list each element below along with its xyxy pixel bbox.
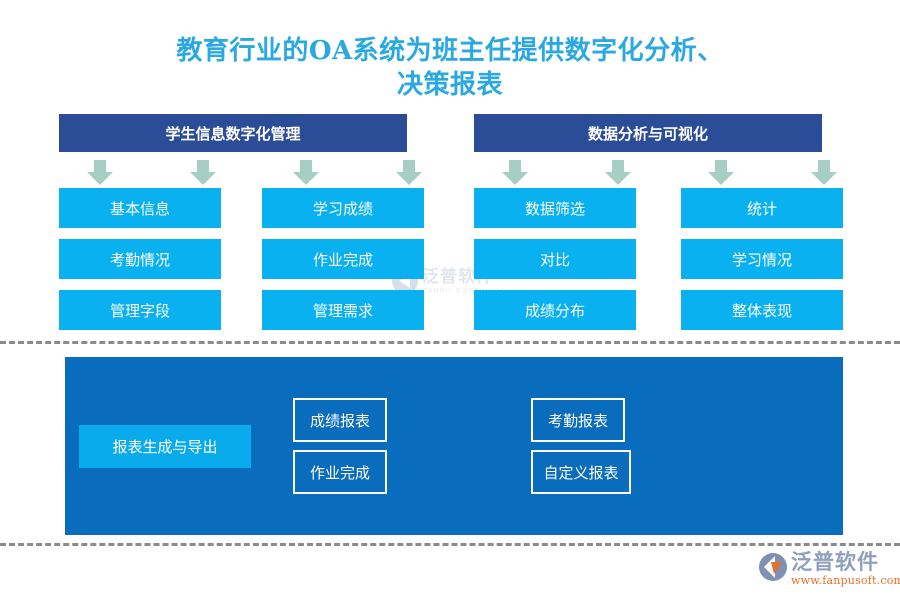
card-attendance[interactable]: 考勤情况 <box>59 239 221 279</box>
card-data-filter[interactable]: 数据筛选 <box>474 188 636 228</box>
arrow-down-icon <box>810 160 838 186</box>
divider-bottom <box>0 543 900 546</box>
report-box-label: 考勤报表 <box>548 410 608 431</box>
report-box-custom[interactable]: 自定义报表 <box>531 450 631 494</box>
page-title-line-2: 决策报表 <box>0 68 900 102</box>
report-panel-label[interactable]: 报表生成与导出 <box>79 425 251 468</box>
page-title: 教育行业的OA系统为班主任提供数字化分析、 决策报表 <box>0 34 900 102</box>
card-label: 统计 <box>747 198 777 219</box>
card-label: 整体表现 <box>732 300 792 321</box>
card-management-need[interactable]: 管理需求 <box>262 290 424 330</box>
card-study-scores[interactable]: 学习成绩 <box>262 188 424 228</box>
card-label: 学习成绩 <box>313 198 373 219</box>
report-box-label: 作业完成 <box>310 462 370 483</box>
arrow-down-icon <box>707 160 735 186</box>
brand-logo: 泛普软件 www.fanpusoft.com <box>758 551 894 593</box>
card-score-distribution[interactable]: 成绩分布 <box>474 290 636 330</box>
section-header-label: 数据分析与可视化 <box>588 123 708 144</box>
page-title-line-1: 教育行业的OA系统为班主任提供数字化分析、 <box>0 34 900 68</box>
card-overall-performance[interactable]: 整体表现 <box>681 290 843 330</box>
arrow-down-icon <box>501 160 529 186</box>
section-header-student-info[interactable]: 学生信息数字化管理 <box>59 114 407 152</box>
card-basic-info[interactable]: 基本信息 <box>59 188 221 228</box>
card-label: 管理字段 <box>110 300 170 321</box>
card-managed-fields[interactable]: 管理字段 <box>59 290 221 330</box>
card-label: 数据筛选 <box>525 198 585 219</box>
card-label: 学习情况 <box>732 249 792 270</box>
card-label: 对比 <box>540 249 570 270</box>
arrow-down-icon <box>189 160 217 186</box>
card-label: 基本信息 <box>110 198 170 219</box>
card-study-status[interactable]: 学习情况 <box>681 239 843 279</box>
report-box-attendance[interactable]: 考勤报表 <box>531 398 625 442</box>
card-homework-done[interactable]: 作业完成 <box>262 239 424 279</box>
section-header-label: 学生信息数字化管理 <box>165 123 300 144</box>
card-label: 作业完成 <box>313 249 373 270</box>
card-statistics[interactable]: 统计 <box>681 188 843 228</box>
arrow-down-icon <box>86 160 114 186</box>
brand-logo-url: www.fanpusoft.com <box>791 574 900 587</box>
card-label: 考勤情况 <box>110 249 170 270</box>
arrow-down-icon <box>395 160 423 186</box>
arrow-down-icon <box>604 160 632 186</box>
fanpu-logo-icon <box>758 552 788 582</box>
card-label: 成绩分布 <box>525 300 585 321</box>
report-box-label: 自定义报表 <box>543 462 618 483</box>
card-comparison[interactable]: 对比 <box>474 239 636 279</box>
report-box-label: 成绩报表 <box>310 410 370 431</box>
report-box-homework[interactable]: 作业完成 <box>293 450 387 494</box>
report-box-score[interactable]: 成绩报表 <box>293 398 387 442</box>
slide-canvas: 教育行业的OA系统为班主任提供数字化分析、 决策报表 学生信息数字化管理 数据分… <box>0 0 900 600</box>
brand-logo-cn: 泛普软件 <box>791 551 900 574</box>
card-label: 管理需求 <box>313 300 373 321</box>
section-header-data-analysis[interactable]: 数据分析与可视化 <box>474 114 822 152</box>
arrow-down-icon <box>292 160 320 186</box>
report-panel-label-text: 报表生成与导出 <box>112 436 217 457</box>
divider-top <box>0 341 900 344</box>
